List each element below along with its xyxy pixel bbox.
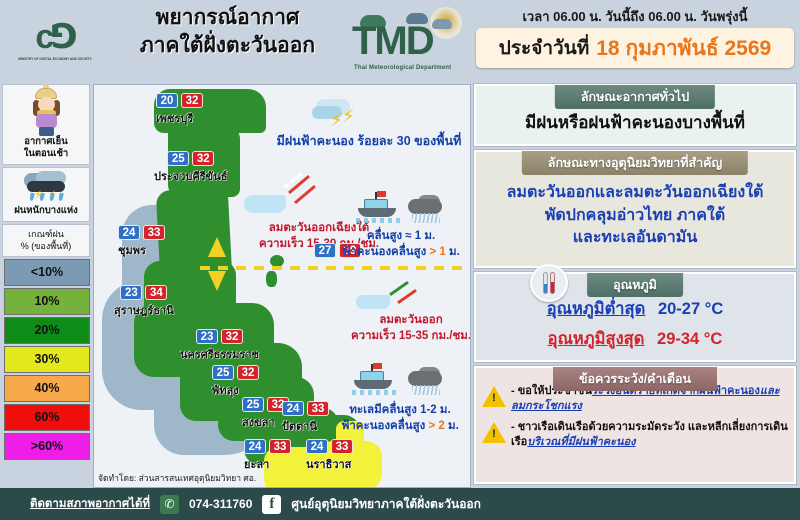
temperature-min-label: อุณหภูมิต่ำสุด	[547, 300, 646, 318]
city-temp-max-badge: 32	[181, 93, 203, 108]
map-anno-sea-upper-2: ฟ้าคะนองคลื่นสูง > 1 ม.	[336, 245, 466, 261]
map-wind-arrows-icon-2	[356, 283, 436, 317]
map-anno-sea-upper-2b: > 1	[430, 246, 446, 258]
city-temp-badges: 2433	[244, 439, 291, 454]
rain-scale-swatch-5: 60%	[4, 404, 90, 431]
map-city-2[interactable]: 2532ประจวบคีรีขันธ์	[154, 151, 227, 185]
city-temp-max-badge: 32	[192, 151, 214, 166]
warning-link-2[interactable]: บริเวณที่มีฝนฟ้าคะนอง	[527, 436, 635, 448]
city-temp-badges: 2032	[156, 93, 203, 108]
panel-general-weather-title: ลักษณะอากาศทั่วไป	[555, 85, 715, 109]
warning-triangle-icon	[482, 386, 506, 407]
warning-item-2: - ชาวเรือเดินเรือด้วยความระมัดระวัง และห…	[482, 420, 788, 451]
city-temp-min-badge: 25	[242, 397, 264, 412]
temperature-max-label: อุณหภูมิสูงสุด	[548, 330, 645, 348]
city-temp-badges: 2334	[114, 285, 174, 300]
warning-text: - ชาวเรือเดินเรือด้วยความระมัดระวัง และห…	[511, 420, 788, 451]
legend-scale-title-1: เกณฑ์ฝน	[3, 228, 89, 240]
city-temp-min-badge: 25	[212, 365, 234, 380]
city-temp-badges: 2532	[212, 365, 259, 380]
footer-phone-number[interactable]: 074-311760	[189, 497, 252, 511]
phone-icon: ✆	[160, 495, 179, 514]
panel-temperature: อุณหภูมิ อุณหภูมิต่ำสุด 20-27 °C อุณหภูม…	[474, 272, 796, 362]
panel-significant-line3: และทะเลอันดามัน	[507, 227, 764, 250]
temperature-min-value: 20-27 °C	[658, 300, 723, 318]
rain-scale-swatch-6: >60%	[4, 433, 90, 460]
map-anno-sea-upper: คลื่นสูง ≈ 1 ม. ฟ้าคะนองคลื่นสูง > 1 ม.	[336, 229, 466, 260]
temperature-max-value: 29-34 °C	[657, 330, 722, 348]
map-thunderstorm-icon: ⚡ ⚡	[312, 93, 364, 137]
page-header: c⅁ MINISTRY OF DIGITAL ECONOMY AND SOCIE…	[0, 0, 800, 82]
rain-scale-swatch-4: 40%	[4, 375, 90, 402]
map-anno-sea-lower-1: ทะเลมีคลื่นสูง 1-2 ม.	[326, 403, 471, 419]
city-temp-max-badge: 33	[269, 439, 291, 454]
city-temp-min-badge: 24	[282, 401, 304, 416]
city-name-label: สุราษฎร์ธานี	[114, 301, 174, 319]
forecast-date-prefix: ประจำวันที่	[499, 33, 589, 63]
map-anno-sea-lower-2b: > 2	[429, 420, 445, 432]
map-anno-wind-east-1: ลมตะวันออก	[336, 313, 471, 329]
forecast-period: เวลา 06.00 น. วันนี้ถึง 06.00 น. วันพรุ่…	[476, 6, 794, 27]
city-name-label: ปัตตานี	[282, 417, 329, 435]
city-temp-min-badge: 24	[118, 225, 140, 240]
city-temp-max-badge: 32	[237, 365, 259, 380]
panel-warnings: ข้อควรระวัง/คำเตือน - ขอให้ประชาชนระวังอ…	[474, 366, 796, 484]
city-name-label: ชุมพร	[118, 241, 165, 259]
tmd-logo: TMD Thai Meteorological Department	[348, 5, 468, 77]
city-name-label: นครศรีธรรมราช	[180, 345, 259, 363]
city-name-label: ประจวบคีรีขันธ์	[154, 167, 227, 185]
map-island-phangan	[266, 271, 277, 287]
legend-cold-weather: อากาศเย็น ในตอนเช้า	[2, 84, 90, 165]
city-temp-max-badge: 33	[143, 225, 165, 240]
ministry-logo-mark: c⅁	[35, 20, 74, 54]
forecast-map[interactable]: ⚡ ⚡ มีฝนฟ้าคะนอง ร้อยละ 30 ของพื้นที่ ลม…	[93, 84, 471, 488]
city-temp-min-badge: 25	[167, 151, 189, 166]
forecast-date-box: ประจำวันที่ 18 กุมภาพันธ์ 2569	[476, 28, 794, 68]
map-anno-wind-east-2: ความเร็ว 15-35 กม./ชม.	[336, 329, 471, 345]
rain-scale-swatch-1: 10%	[4, 288, 90, 315]
warning-triangle-icon	[482, 422, 506, 443]
city-temp-max-badge: 34	[145, 285, 167, 300]
warning-text-plain-1: - ชาวเรือเดินเรือด้วยความระมัดระวัง และห…	[511, 421, 751, 433]
panel-significant-line1: ลมตะวันออกและลมตะวันออกเฉียงใต้	[507, 182, 764, 205]
map-anno-sea-lower-2c: ม.	[448, 420, 459, 432]
page-title-line1: พยากรณ์อากาศ	[105, 4, 350, 32]
page-title-line2: ภาคใต้ฝั่งตะวันออก	[105, 32, 350, 60]
legend-cold-label-2: ในตอนเช้า	[24, 148, 69, 160]
legend-heavy-rain-label: ฝนหนักบางแห่ง	[14, 205, 78, 217]
map-city-3[interactable]: 2433ชุมพร	[118, 225, 165, 259]
city-temp-min-badge: 20	[156, 93, 178, 108]
map-credit: จัดทำโดย: ส่วนสารสนเทศอุตุนิยมวิทยา ศอ.	[98, 471, 256, 485]
tmd-logo-word: TMD	[352, 21, 433, 61]
panel-significant-title: ลักษณะทางอุตุนิยมวิทยาที่สำคัญ	[522, 151, 748, 175]
panel-general-weather: ลักษณะอากาศทั่วไป มีฝนหรือฝนฟ้าคะนองบางพ…	[474, 84, 796, 146]
page-footer: ติดตามสภาพอากาศได้ที่ ✆ 074-311760 f ศูน…	[0, 488, 800, 520]
map-rain-cloud-icon-lower	[406, 369, 446, 395]
rain-scale-swatch-2: 20%	[4, 317, 90, 344]
map-city-9[interactable]: 2433ยะลา	[244, 439, 291, 473]
map-city-1[interactable]: 2032เพชรบุรี	[156, 93, 203, 127]
ministry-logo-caption: MINISTRY OF DIGITAL ECONOMY AND SOCIETY	[18, 57, 92, 62]
map-city-4[interactable]: 2334สุราษฎร์ธานี	[114, 285, 174, 319]
map-latitude-dashed-line	[200, 266, 462, 270]
map-anno-sea-upper-2c: ม.	[449, 246, 460, 258]
city-temp-badges: 2433	[118, 225, 165, 240]
cloud-icon-2	[432, 19, 452, 29]
city-temp-badges: 2532	[154, 151, 227, 166]
map-rain-cloud-icon-upper	[406, 197, 446, 223]
legend-scale-title: เกณฑ์ฝน % (ของพื้นที่)	[2, 224, 90, 257]
legend-cold-label-1: อากาศเย็น	[24, 136, 67, 148]
legend-heavy-rain: ⚡⚡ ฝนหนักบางแห่ง	[2, 167, 90, 222]
map-city-5[interactable]: 2332นครศรีธรรมราช	[180, 329, 259, 363]
city-temp-min-badge: 23	[120, 285, 142, 300]
city-temp-badges: 2433	[306, 439, 353, 454]
panel-significant-meteorology: ลักษณะทางอุตุนิยมวิทยาที่สำคัญ ลมตะวันออ…	[474, 150, 796, 268]
footer-follow-label: ติดตามสภาพอากาศได้ที่	[30, 495, 150, 513]
map-anno-sea-upper-2a: ฟ้าคะนองคลื่นสูง	[342, 246, 426, 258]
city-temp-min-badge: 23	[196, 329, 218, 344]
map-anno-sea-lower-2: ฟ้าคะนองคลื่นสูง > 2 ม.	[326, 419, 471, 435]
map-anno-sea-upper-1: คลื่นสูง ≈ 1 ม.	[336, 229, 466, 245]
panel-temperature-title: อุณหภูมิ	[587, 273, 683, 297]
map-arrow-up-icon	[208, 237, 226, 257]
ministry-logo: c⅁ MINISTRY OF DIGITAL ECONOMY AND SOCIE…	[12, 6, 98, 76]
city-temp-max-badge: 33	[331, 439, 353, 454]
footer-facebook-page[interactable]: ศูนย์อุตุนิยมวิทยาภาคใต้ฝั่งตะวันออก	[291, 495, 481, 514]
rain-percent-scale: <10%10%20%30%40%60%>60%	[2, 259, 92, 460]
map-boat-icon-lower	[352, 365, 396, 395]
thermometer-icon	[530, 264, 568, 302]
city-temp-min-badge: 24	[306, 439, 328, 454]
rain-scale-swatch-0: <10%	[4, 259, 90, 286]
panel-warnings-title: ข้อควรระวัง/คำเตือน	[553, 367, 717, 391]
city-name-label: เพชรบุรี	[156, 109, 203, 127]
panel-significant-line2: พัดปกคลุมอ่าวไทย ภาคใต้	[507, 205, 764, 228]
map-boat-icon-upper	[356, 193, 400, 223]
rain-scale-swatch-3: 30%	[4, 346, 90, 373]
page-title: พยากรณ์อากาศ ภาคใต้ฝั่งตะวันออก	[105, 4, 350, 59]
temperature-min-row: อุณหภูมิต่ำสุด 20-27 °C	[547, 296, 724, 322]
map-anno-sea-lower-2a: ฟ้าคะนองคลื่นสูง	[341, 420, 425, 432]
city-name-label: นราธิวาส	[306, 455, 353, 473]
city-temp-min-badge: 24	[244, 439, 266, 454]
map-wind-arrows-icon	[242, 177, 332, 227]
cold-girl-icon	[26, 88, 66, 136]
panel-general-weather-text: มีฝนหรือฝนฟ้าคะนองบางพื้นที่	[525, 109, 745, 136]
tmd-logo-subtitle: Thai Meteorological Department	[354, 65, 451, 71]
map-anno-wind-east: ลมตะวันออก ความเร็ว 15-35 กม./ชม.	[336, 313, 471, 344]
map-anno-sea-lower: ทะเลมีคลื่นสูง 1-2 ม. ฟ้าคะนองคลื่นสูง >…	[326, 403, 471, 434]
sea-temp-min-badge: 27	[314, 243, 336, 258]
map-arrow-down-icon	[208, 271, 226, 291]
map-city-8[interactable]: 2433ปัตตานี	[282, 401, 329, 435]
map-anno-thunder-area: มีฝนฟ้าคะนอง ร้อยละ 30 ของพื้นที่	[264, 133, 471, 150]
thunderstorm-rain-icon: ⚡⚡	[22, 171, 70, 205]
forecast-date-value: 18 กุมภาพันธ์ 2569	[596, 32, 771, 65]
city-temp-max-badge: 32	[221, 329, 243, 344]
facebook-icon[interactable]: f	[262, 495, 281, 514]
city-temp-max-badge: 33	[307, 401, 329, 416]
city-temp-badges: 2332	[180, 329, 259, 344]
map-city-10[interactable]: 2433นราธิวาส	[306, 439, 353, 473]
legend-sidebar: อากาศเย็น ในตอนเช้า ⚡⚡ ฝนหนักบางแห่ง เกณ…	[2, 84, 92, 484]
city-temp-badges: 2433	[282, 401, 329, 416]
legend-scale-title-2: % (ของพื้นที่)	[3, 240, 89, 252]
map-city-6[interactable]: 2532พัทลุง	[212, 365, 259, 399]
temperature-max-row: อุณหภูมิสูงสุด 29-34 °C	[548, 326, 723, 352]
